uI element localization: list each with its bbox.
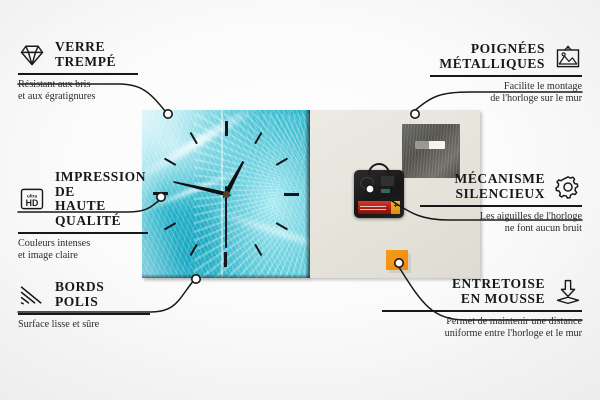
battery-label <box>360 204 386 210</box>
callout-rule <box>18 73 138 75</box>
callout-mecanisme-silencieux: MÉCANISME SILENCIEUX Les aiguilles de l'… <box>420 172 582 235</box>
callout-subtitle: Couleurs intenses et image claire <box>18 238 148 263</box>
callout-rule <box>430 75 582 77</box>
callout-subtitle: Résistant aux bris et aux égratignures <box>18 79 138 104</box>
polished-edges-icon <box>18 281 46 309</box>
hanger-slot <box>415 141 445 149</box>
callout-poignees-metalliques: POIGNÉES MÉTALLIQUES Facilite le montage… <box>430 42 582 105</box>
callout-subtitle: Surface lisse et sûre <box>18 319 150 331</box>
callout-subtitle: Facilite le montage de l'horloge sur le … <box>430 81 582 106</box>
mechanism-chip <box>381 189 390 193</box>
battery-plus-v <box>395 203 397 207</box>
mechanism-block <box>381 176 394 186</box>
mechanism-hook <box>368 163 390 175</box>
callout-impression-haute-qualite: ultra HD IMPRESSION DE HAUTE QUALITÉ Cou… <box>18 170 148 262</box>
callout-entretoise-en-mousse: ENTRETOISE EN MOUSSE Permet de maintenir… <box>382 277 582 340</box>
panel-seam <box>221 110 223 278</box>
mechanism-dial <box>360 177 374 189</box>
callout-verre-trempe: VERRE TREMPÉ Résistant aux bris et aux é… <box>18 40 138 103</box>
clock-face-front-view <box>142 110 310 278</box>
battery-part <box>358 201 400 214</box>
svg-text:HD: HD <box>26 198 39 208</box>
infographic-canvas: VERRE TREMPÉ Résistant aux bris et aux é… <box>0 0 600 400</box>
hanger-plate-part <box>402 124 460 178</box>
callout-title: ENTRETOISE EN MOUSSE <box>452 277 545 306</box>
callout-subtitle: Permet de maintenir une distance uniform… <box>382 316 582 341</box>
arrow-down-pad-icon <box>554 278 582 306</box>
callout-rule <box>18 313 150 315</box>
mechanism-box-part <box>354 170 404 218</box>
callout-rule <box>18 232 148 234</box>
callout-title: BORDS POLIS <box>55 280 104 309</box>
glass-edge-shadow-bottom <box>142 274 310 278</box>
foam-spacer-part <box>386 250 408 270</box>
callout-title: MÉCANISME SILENCIEUX <box>455 172 545 201</box>
callout-title: VERRE TREMPÉ <box>55 40 116 69</box>
callout-rule <box>382 310 582 312</box>
callout-rule <box>420 205 582 207</box>
callout-bords-polis: BORDS POLIS Surface lisse et sûre <box>18 280 150 331</box>
ultra-hd-icon: ultra HD <box>18 185 46 213</box>
callout-subtitle: Les aiguilles de l'horloge ne font aucun… <box>420 211 582 236</box>
callout-title: IMPRESSION DE HAUTE QUALITÉ <box>55 170 148 228</box>
callout-title: POIGNÉES MÉTALLIQUES <box>439 42 545 71</box>
picture-frame-icon <box>554 43 582 71</box>
gear-icon <box>554 173 582 201</box>
diamond-icon <box>18 41 46 69</box>
